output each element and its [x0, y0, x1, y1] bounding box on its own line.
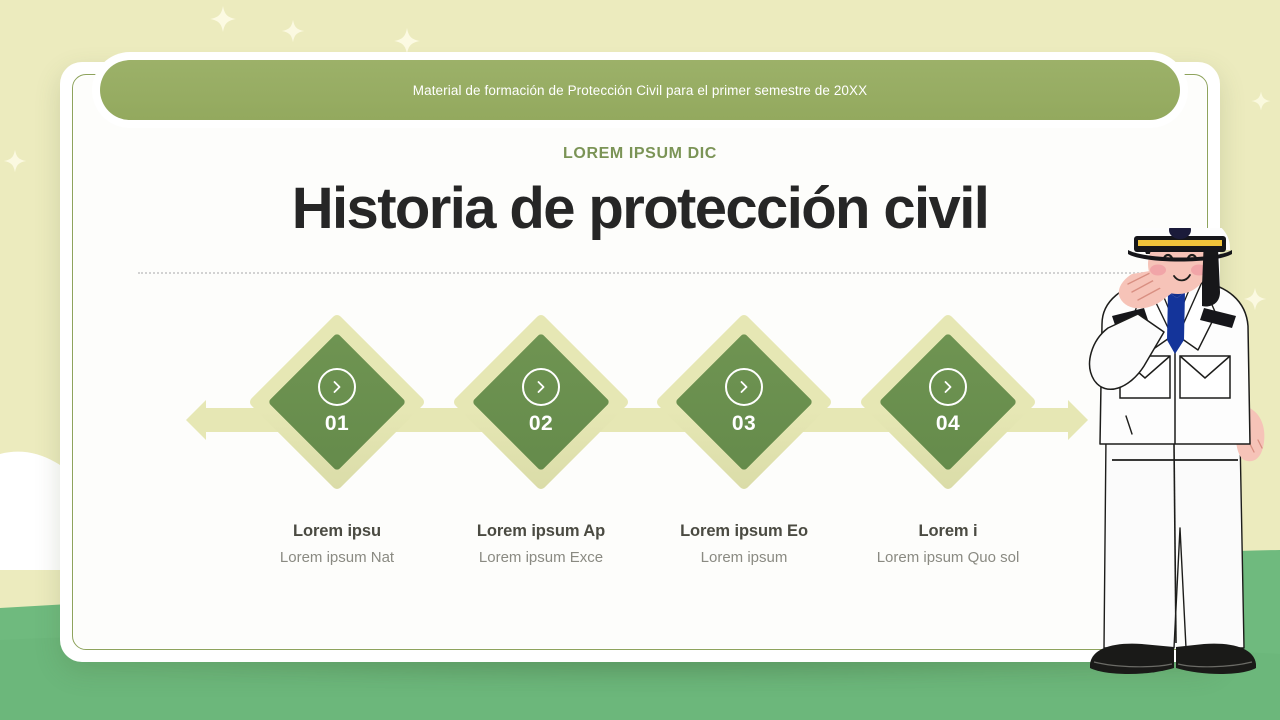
caption-01: Lorem ipsu Lorem ipsum Nat: [222, 522, 452, 566]
node-number: 02: [529, 412, 553, 436]
caption-subtitle: Lorem ipsum Quo sol: [833, 549, 1063, 566]
timeline-node-03[interactable]: 03: [659, 326, 829, 512]
node-face: 01: [252, 326, 422, 478]
dotted-divider: [138, 272, 1158, 274]
node-number: 03: [732, 412, 756, 436]
caption-04: Lorem i Lorem ipsum Quo sol: [833, 522, 1063, 566]
chevron-right-icon[interactable]: [725, 368, 763, 406]
eyebrow-label: LOREM IPSUM DIC: [0, 145, 1280, 163]
sparkle-star-icon: [280, 18, 306, 44]
node-face: 02: [456, 326, 626, 478]
timeline-node-02[interactable]: 02: [456, 326, 626, 512]
chevron-right-icon[interactable]: [318, 368, 356, 406]
node-number: 04: [936, 412, 960, 436]
chevron-right-icon[interactable]: [522, 368, 560, 406]
saluting-officer-illustration: [1068, 228, 1280, 690]
caption-subtitle: Lorem ipsum Exce: [426, 549, 656, 566]
slide-canvas: Material de formación de Protección Civi…: [0, 0, 1280, 720]
caption-title: Lorem i: [833, 522, 1063, 541]
caption-title: Lorem ipsum Ap: [426, 522, 656, 541]
sparkle-star-icon: [1250, 90, 1272, 112]
caption-02: Lorem ipsum Ap Lorem ipsum Exce: [426, 522, 656, 566]
caption-title: Lorem ipsu: [222, 522, 452, 541]
timeline-node-01[interactable]: 01: [252, 326, 422, 512]
node-face: 04: [863, 326, 1033, 478]
caption-subtitle: Lorem ipsum Nat: [222, 549, 452, 566]
timeline-node-04[interactable]: 04: [863, 326, 1033, 512]
banner-text: Material de formación de Protección Civi…: [413, 83, 868, 98]
sparkle-star-icon: [208, 4, 238, 34]
caption-03: Lorem ipsum Eo Lorem ipsum: [629, 522, 859, 566]
node-number: 01: [325, 412, 349, 436]
caption-title: Lorem ipsum Eo: [629, 522, 859, 541]
chevron-right-icon[interactable]: [929, 368, 967, 406]
top-banner: Material de formación de Protección Civi…: [100, 60, 1180, 120]
node-face: 03: [659, 326, 829, 478]
caption-subtitle: Lorem ipsum: [629, 549, 859, 566]
